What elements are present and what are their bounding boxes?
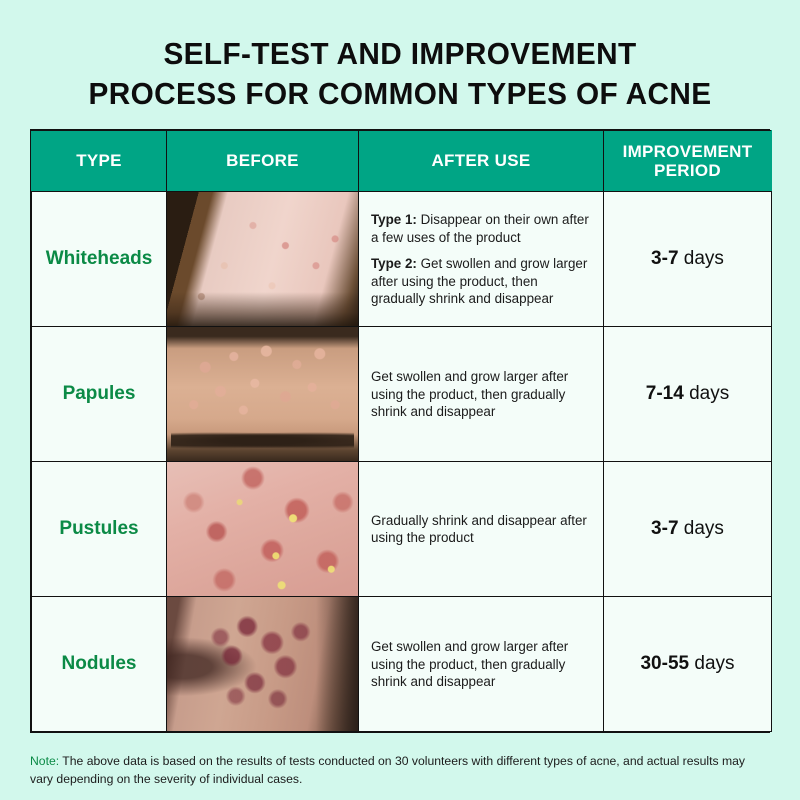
- improvement-period-value: 3-7: [651, 518, 678, 539]
- forehead-whiteheads-photo: [167, 192, 358, 326]
- jaw-nodules-photo: [167, 597, 358, 731]
- acne-comparison-table-wrapper: TYPE BEFORE AFTER USE IMPROVEMENT PERIOD…: [30, 129, 770, 733]
- table-row: Whiteheads Type 1: Disappear on their ow…: [32, 192, 772, 327]
- table-row: Nodules Get swollen and grow larger afte…: [32, 597, 772, 732]
- after-use-paragraph: Gradually shrink and disappear after usi…: [371, 512, 591, 547]
- forehead-papules-photo: [167, 327, 358, 461]
- cell-before-pustules: [167, 462, 359, 597]
- improvement-period-value: 3-7: [651, 248, 678, 269]
- column-header-after-use: AFTER USE: [359, 131, 604, 192]
- improvement-period-unit: days: [684, 518, 724, 539]
- after-use-paragraph: Get swollen and grow larger after using …: [371, 638, 591, 690]
- cell-type-whiteheads: Whiteheads: [32, 192, 167, 327]
- after-use-text: Get swollen and grow larger after using …: [371, 369, 568, 419]
- column-header-improvement-period: IMPROVEMENT PERIOD: [604, 131, 772, 192]
- after-use-text: Get swollen and grow larger after using …: [371, 639, 568, 689]
- footnote: Note: The above data is based on the res…: [30, 753, 770, 788]
- page-title: SELF-TEST AND IMPROVEMENT PROCESS FOR CO…: [0, 0, 800, 113]
- page-title-line-2: PROCESS FOR COMMON TYPES OF ACNE: [45, 74, 755, 114]
- column-header-improvement-period-line-2: PERIOD: [654, 161, 721, 180]
- column-header-type: TYPE: [32, 131, 167, 192]
- table-row: Pustules Gradually shrink and disappear …: [32, 462, 772, 597]
- cell-type-nodules: Nodules: [32, 597, 167, 732]
- cell-after-use-pustules: Gradually shrink and disappear after usi…: [359, 462, 604, 597]
- cell-improvement-period-pustules: 3-7 days: [604, 462, 772, 597]
- cell-type-papules: Papules: [32, 327, 167, 462]
- acne-comparison-table: TYPE BEFORE AFTER USE IMPROVEMENT PERIOD…: [31, 130, 772, 732]
- cell-after-use-whiteheads: Type 1: Disappear on their own after a f…: [359, 192, 604, 327]
- footnote-label: Note:: [30, 754, 59, 768]
- improvement-period-unit: days: [689, 383, 729, 404]
- improvement-period-value: 7-14: [646, 383, 684, 404]
- table-header: TYPE BEFORE AFTER USE IMPROVEMENT PERIOD: [32, 131, 772, 192]
- cell-before-nodules: [167, 597, 359, 732]
- improvement-period-unit: days: [684, 248, 724, 269]
- cell-improvement-period-whiteheads: 3-7 days: [604, 192, 772, 327]
- improvement-period-unit: days: [694, 653, 734, 674]
- after-use-label: Type 2:: [371, 256, 417, 271]
- table-header-row: TYPE BEFORE AFTER USE IMPROVEMENT PERIOD: [32, 131, 772, 192]
- cell-improvement-period-papules: 7-14 days: [604, 327, 772, 462]
- footnote-text: The above data is based on the results o…: [30, 754, 745, 785]
- after-use-paragraph: Get swollen and grow larger after using …: [371, 368, 591, 420]
- column-header-before: BEFORE: [167, 131, 359, 192]
- cell-after-use-papules: Get swollen and grow larger after using …: [359, 327, 604, 462]
- cell-before-papules: [167, 327, 359, 462]
- cell-before-whiteheads: [167, 192, 359, 327]
- after-use-paragraph: Type 1: Disappear on their own after a f…: [371, 211, 591, 246]
- cell-improvement-period-nodules: 30-55 days: [604, 597, 772, 732]
- after-use-label: Type 1:: [371, 212, 417, 227]
- column-header-improvement-period-line-1: IMPROVEMENT: [623, 142, 753, 161]
- cell-after-use-nodules: Get swollen and grow larger after using …: [359, 597, 604, 732]
- after-use-paragraph: Type 2: Get swollen and grow larger afte…: [371, 255, 591, 307]
- page-title-line-1: SELF-TEST AND IMPROVEMENT: [45, 34, 755, 74]
- table-body: Whiteheads Type 1: Disappear on their ow…: [32, 192, 772, 732]
- cell-type-pustules: Pustules: [32, 462, 167, 597]
- after-use-text: Gradually shrink and disappear after usi…: [371, 513, 587, 545]
- improvement-period-value: 30-55: [640, 653, 689, 674]
- table-row: Papules Get swollen and grow larger afte…: [32, 327, 772, 462]
- cheek-pustules-photo: [167, 462, 358, 596]
